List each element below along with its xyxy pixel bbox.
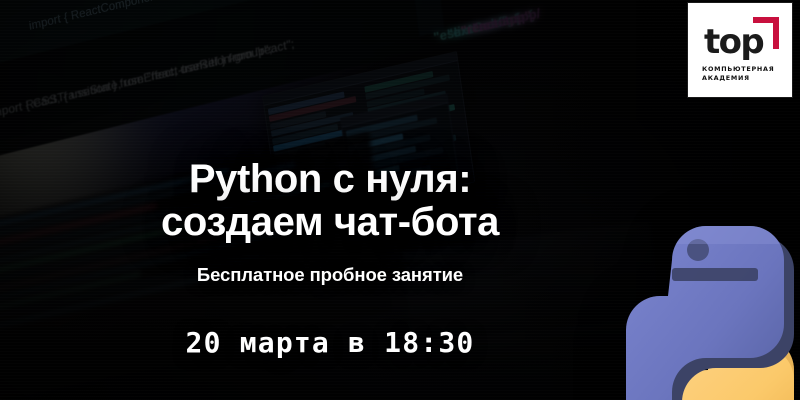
promo-banner: import { ReactComponent as BoltIcon } fr… (0, 0, 800, 400)
python-logo-highlight (676, 226, 780, 244)
event-date: 20 марта в 18:30 (186, 326, 475, 359)
brand-subtitle-line-1: КОМПЬЮТЕРНАЯ (702, 65, 778, 74)
brand-logo-card[interactable]: top КОМПЬЮТЕРНАЯ АКАДЕМИЯ (688, 3, 792, 97)
subtitle: Бесплатное пробное занятие (197, 264, 463, 286)
brand-subtitle-line-2: АКАДЕМИЯ (702, 74, 778, 83)
page-title: Python с нуля: создаем чат-бота (161, 158, 499, 244)
headline-line-1: Python с нуля: (161, 158, 499, 201)
headline-line-2: создаем чат-бота (161, 201, 499, 244)
brand-corner-bracket-icon (753, 17, 779, 49)
python-logo-head-slot (672, 268, 758, 281)
brand-logo-mark: top (702, 17, 778, 61)
copy-block: Python с нуля: создаем чат-бота Бесплатн… (0, 0, 660, 400)
brand-subtitle: КОМПЬЮТЕРНАЯ АКАДЕМИЯ (702, 65, 778, 83)
